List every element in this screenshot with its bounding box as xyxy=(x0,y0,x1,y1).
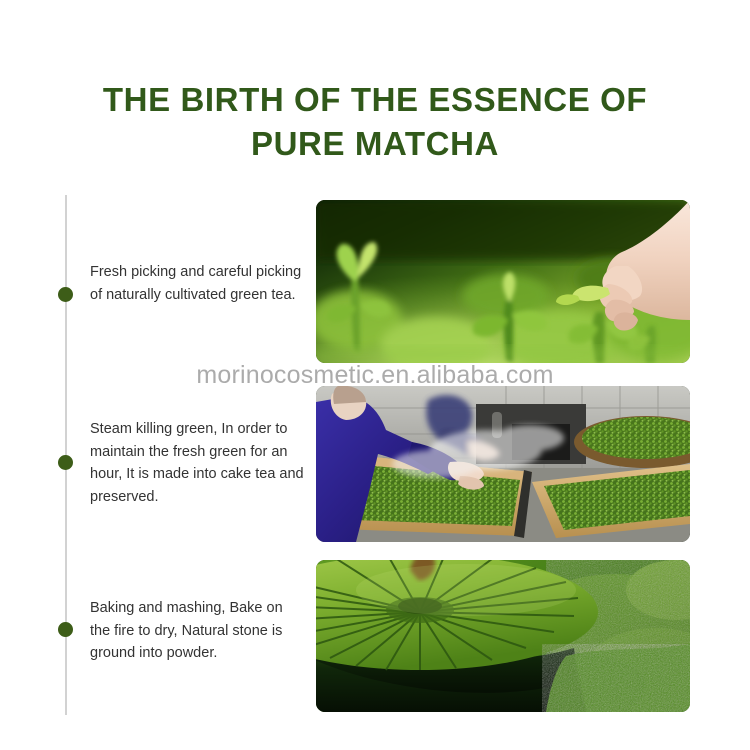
timeline-dot-step-2 xyxy=(58,455,73,470)
page-title-line-1: THE BIRTH OF THE ESSENCE OF xyxy=(0,78,750,122)
step-2-description: Steam killing green, In order to maintai… xyxy=(90,418,306,508)
page-title-line-2: PURE MATCHA xyxy=(0,122,750,166)
matcha-process-infographic: THE BIRTH OF THE ESSENCE OF PURE MATCHA … xyxy=(0,0,750,750)
stone-mill-matcha-powder-illustration xyxy=(316,560,690,712)
hand-picking-tea-leaves-illustration xyxy=(316,200,690,363)
step-2-photo-steaming-tea xyxy=(316,386,690,542)
steaming-tea-leaves-trays-illustration xyxy=(316,386,690,542)
timeline-dot-step-3 xyxy=(58,622,73,637)
step-1-photo-hand-picking-tea xyxy=(316,200,690,363)
step-1-description: Fresh picking and careful picking of nat… xyxy=(90,261,306,306)
step-3-description: Baking and mashing, Bake on the fire to … xyxy=(90,597,306,665)
page-title: THE BIRTH OF THE ESSENCE OF PURE MATCHA xyxy=(0,78,750,166)
timeline-dot-step-1 xyxy=(58,287,73,302)
step-3-photo-stone-mill-grinding xyxy=(316,560,690,712)
